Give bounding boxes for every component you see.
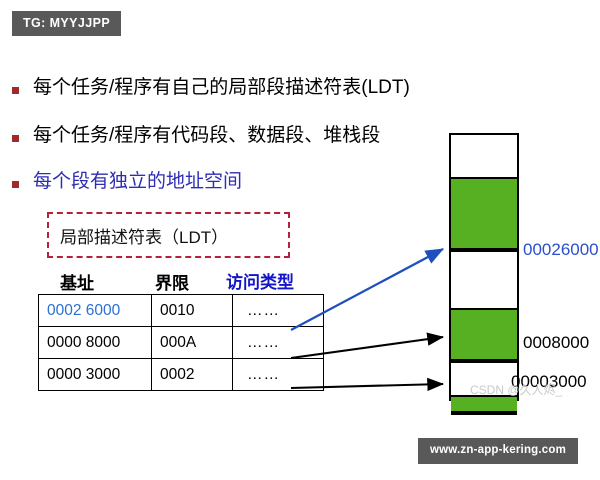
bullet-item-2-label: 每个任务/程序有代码段、数据段、堆栈段	[33, 126, 380, 147]
memory-segment-free-2	[451, 250, 517, 308]
column-header-access-type: 访问类型	[226, 268, 294, 293]
memory-segment-allocated-1	[451, 177, 517, 250]
ldt-descriptor-table: 0002 6000 0010 …… 0000 8000 000A …… 0000…	[38, 294, 324, 391]
bullet-item-3-label: 每个段有独立的地址空间	[33, 172, 242, 193]
address-label-00003000: 00003000	[511, 372, 587, 392]
table-row: 0000 8000 000A ……	[39, 327, 324, 359]
cell-base: 0000 8000	[39, 327, 152, 359]
column-header-limit: 界限	[155, 269, 189, 294]
tg-badge: TG: MYYJJPP	[12, 11, 121, 36]
table-row: 0002 6000 0010 ……	[39, 295, 324, 327]
cell-limit: 0010	[152, 295, 233, 327]
cell-base: 0002 6000	[39, 295, 152, 327]
cell-limit: 0002	[152, 359, 233, 391]
column-header-base: 基址	[60, 269, 94, 294]
cell-access-type: ……	[233, 327, 324, 359]
cell-access-type: ……	[233, 359, 324, 391]
memory-segment-allocated-3	[451, 395, 517, 413]
ldt-title-label: 局部描述符表（LDT）	[49, 223, 228, 248]
table-row: 0000 3000 0002 ……	[39, 359, 324, 391]
memory-segment-free-3	[451, 361, 517, 395]
cell-base: 0000 3000	[39, 359, 152, 391]
bullet-item-3: 每个段有独立的地址空间	[12, 172, 242, 193]
bullet-item-2: 每个任务/程序有代码段、数据段、堆栈段	[12, 126, 380, 147]
cell-access-type: ……	[233, 295, 324, 327]
address-label-0008000: 0008000	[523, 333, 589, 353]
address-label-00026000: 00026000	[523, 240, 599, 260]
cell-limit: 000A	[152, 327, 233, 359]
square-bullet-icon	[12, 181, 19, 188]
square-bullet-icon	[12, 87, 19, 94]
memory-segment-free-top	[451, 135, 517, 177]
memory-layout-bar	[449, 133, 519, 401]
site-url-badge: www.zn-app-kering.com	[418, 438, 578, 464]
ldt-title-box: 局部描述符表（LDT）	[47, 212, 290, 258]
memory-segment-allocated-2	[451, 308, 517, 361]
memory-segment-free-bottom	[451, 413, 517, 431]
bullet-item-1-label: 每个任务/程序有自己的局部段描述符表(LDT)	[33, 78, 410, 99]
bullet-item-1: 每个任务/程序有自己的局部段描述符表(LDT)	[12, 78, 410, 99]
square-bullet-icon	[12, 135, 19, 142]
